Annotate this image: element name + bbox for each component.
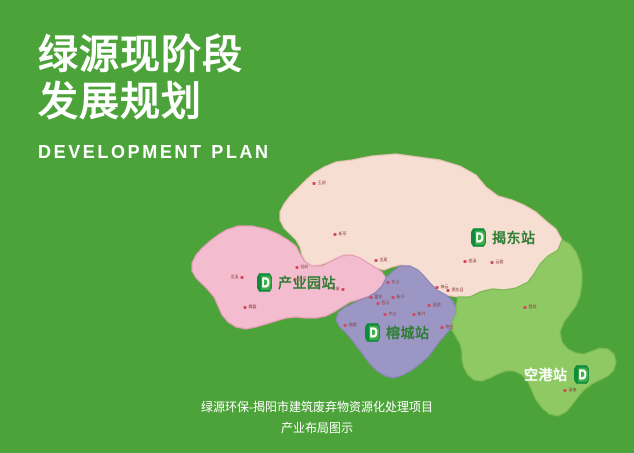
town-label: 霖磐	[249, 304, 257, 310]
town-marker: 新兴	[413, 311, 426, 317]
station-label-rongcheng: 榕城站	[386, 323, 430, 343]
town-label: 曲溪	[469, 258, 477, 264]
caption-line2: 产业布局图示	[0, 418, 634, 439]
town-marker: 霖磐	[244, 304, 257, 310]
town-dot-icon	[296, 266, 299, 269]
town-label: 炮台	[446, 324, 454, 330]
station-marker-chanyeyuan[interactable]: 产业园站	[256, 272, 336, 293]
town-marker: 云路	[491, 259, 504, 265]
town-label: 玉湖	[318, 180, 326, 186]
page-title-line2: 发展规划	[38, 79, 368, 126]
town-dot-icon	[428, 304, 431, 307]
town-dot-icon	[447, 289, 450, 292]
town-marker: 渔湖	[428, 302, 441, 308]
town-label: 新兴	[397, 294, 405, 300]
caption-block: 绿源环保-揭阳市建筑废弃物资源化处理项目 产业布局图示	[0, 397, 634, 439]
town-marker: 龙溪	[231, 274, 244, 280]
page-title-line1: 绿源现阶段	[38, 32, 368, 79]
station-marker-jiedong[interactable]: 揭东站	[470, 227, 536, 248]
lvyuan-logo-icon	[470, 227, 487, 248]
title-block: 绿源现阶段 发展规划 DEVELOPMENT PLAN	[38, 32, 368, 163]
town-dot-icon	[413, 313, 416, 316]
station-label-konggang: 空港站	[524, 365, 568, 385]
town-label: 龙溪	[231, 274, 239, 280]
town-label: 新亭	[339, 231, 347, 237]
town-dot-icon	[334, 233, 337, 236]
town-label: 中山	[389, 311, 397, 317]
poster-root: 绿源现阶段 发展规划 DEVELOPMENT PLAN 揭东站 产业园站	[0, 0, 634, 453]
lvyuan-logo-icon	[573, 364, 590, 385]
town-label: 西马	[382, 300, 390, 306]
town-dot-icon	[244, 306, 247, 309]
town-dot-icon	[441, 326, 444, 329]
town-label: 新兴	[418, 311, 426, 317]
station-marker-konggang[interactable]: 空港站	[524, 364, 590, 385]
town-marker: 西马	[377, 300, 390, 306]
town-label: 龙尾	[380, 257, 388, 263]
town-dot-icon	[436, 286, 439, 289]
lvyuan-logo-icon	[256, 272, 273, 293]
town-dot-icon	[370, 296, 373, 299]
town-marker: 新亭	[334, 231, 347, 237]
town-dot-icon	[491, 261, 494, 264]
town-dot-icon	[564, 389, 567, 392]
town-marker: 东山	[387, 279, 400, 285]
town-marker: 龙尾	[375, 257, 388, 263]
town-label: 地都	[349, 322, 357, 328]
caption-line1: 绿源环保-揭阳市建筑废弃物资源化处理项目	[0, 397, 634, 418]
town-dot-icon	[375, 259, 378, 262]
town-label: 登岗	[529, 304, 537, 310]
town-marker: 炮台	[441, 324, 454, 330]
town-dot-icon	[464, 260, 467, 263]
town-dot-icon	[377, 302, 380, 305]
town-marker: 登岗	[524, 304, 537, 310]
town-dot-icon	[524, 306, 527, 309]
town-marker: 中山	[384, 311, 397, 317]
town-label: 溪南	[569, 387, 577, 393]
town-dot-icon	[392, 296, 395, 299]
town-label: 揭东县	[452, 287, 464, 293]
town-label: 桂岭	[301, 264, 309, 270]
town-marker: 新兴	[392, 294, 405, 300]
town-dot-icon	[313, 182, 316, 185]
town-marker: 桂岭	[296, 264, 309, 270]
town-marker: 曲溪	[464, 258, 477, 264]
town-dot-icon	[387, 281, 390, 284]
lvyuan-logo-icon	[364, 322, 381, 343]
town-label: 东山	[392, 279, 400, 285]
station-label-jiedong: 揭东站	[492, 228, 536, 248]
town-marker: 揭东县	[447, 287, 464, 293]
town-dot-icon	[344, 324, 347, 327]
town-dot-icon	[241, 276, 244, 279]
town-dot-icon	[384, 313, 387, 316]
town-label: 云路	[496, 259, 504, 265]
town-marker: 地都	[344, 322, 357, 328]
town-marker: 玉湖	[313, 180, 326, 186]
page-subtitle: DEVELOPMENT PLAN	[38, 142, 368, 163]
station-label-chanyeyuan: 产业园站	[278, 273, 336, 293]
station-marker-rongcheng[interactable]: 榕城站	[364, 322, 430, 343]
town-marker: 溪南	[564, 387, 577, 393]
town-label: 渔湖	[433, 302, 441, 308]
town-dot-icon	[342, 288, 345, 291]
